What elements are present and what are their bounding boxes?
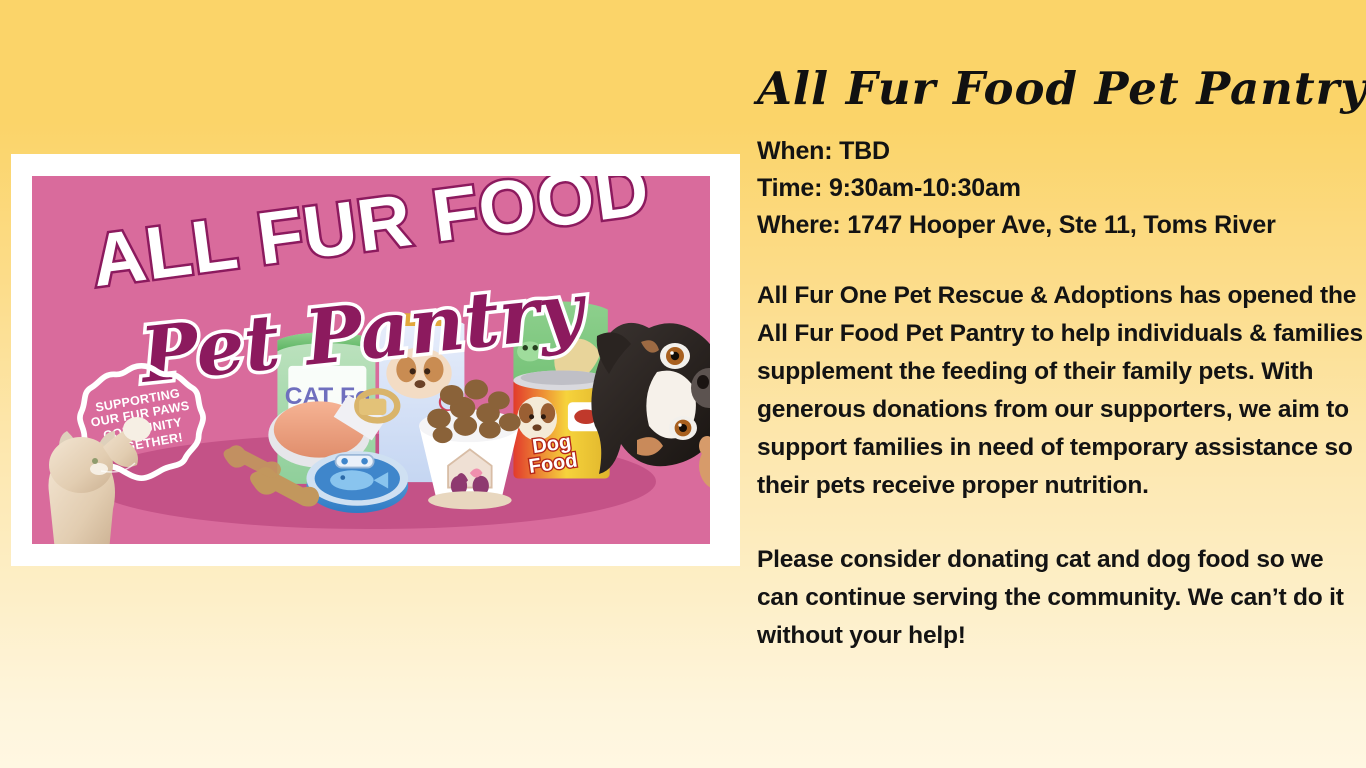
dog-photo bbox=[571, 316, 710, 516]
description-paragraph-1: All Fur One Pet Rescue & Adoptions has o… bbox=[757, 277, 1365, 505]
event-where: Where: 1747 Hooper Ave, Ste 11, Toms Riv… bbox=[757, 207, 1365, 244]
description-paragraph-2: Please consider donating cat and dog foo… bbox=[757, 541, 1365, 655]
event-when: When: TBD bbox=[757, 133, 1365, 170]
page-title: All Fur Food Pet Pantry bbox=[757, 62, 1365, 115]
event-info-panel: All Fur Food Pet Pantry When: TBD Time: … bbox=[757, 62, 1365, 679]
flyer-canvas: CAT Fo A bbox=[32, 176, 710, 544]
event-time: Time: 9:30am-10:30am bbox=[757, 170, 1365, 207]
flyer-image: CAT Fo A bbox=[11, 154, 740, 566]
kitten-photo bbox=[32, 401, 157, 544]
tuna-tin bbox=[307, 451, 409, 513]
